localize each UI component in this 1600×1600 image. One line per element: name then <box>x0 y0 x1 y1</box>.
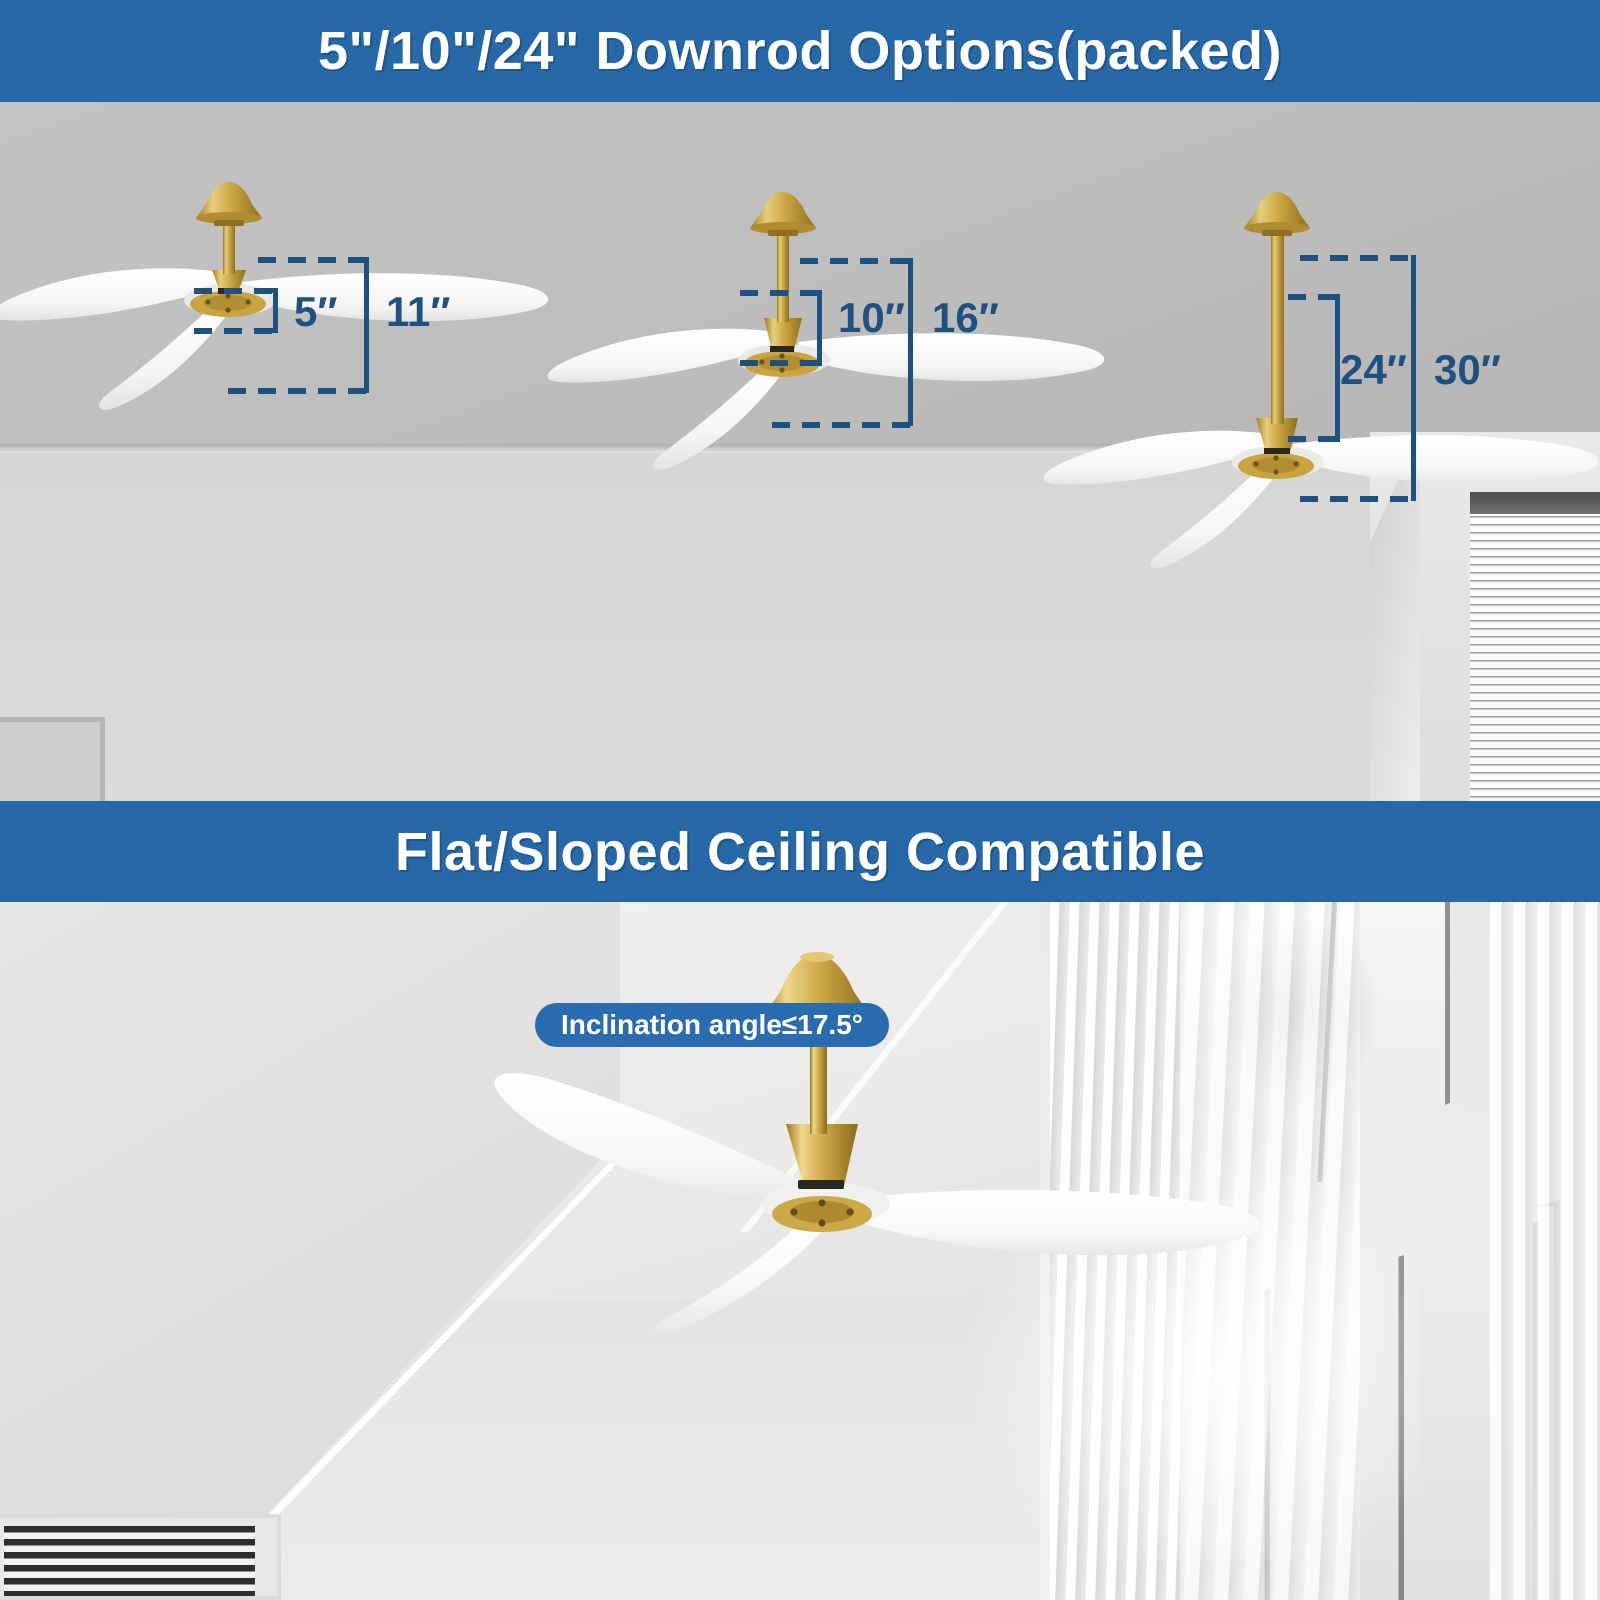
fan-blade <box>1292 435 1598 483</box>
downrod-comparison-scene: 5″ 11″ <box>0 102 1600 801</box>
downrod <box>223 226 235 274</box>
dim-bottom-dashed-line-5in <box>228 388 368 394</box>
dim-label-rod-24in: 24″ <box>1340 346 1407 394</box>
banner-ceiling-compatible-text: Flat/Sloped Ceiling Compatible <box>395 821 1205 883</box>
dim-label-rod-10in: 10″ <box>838 294 905 342</box>
banner-downrod-options-text: 5"/10"/24" Downrod Options(packed) <box>318 20 1282 82</box>
ceiling-fan-24in <box>1020 132 1600 552</box>
dim-top-dashed-line-10in <box>800 258 912 264</box>
ceiling-fan-sloped <box>440 912 1340 1332</box>
dim-top-dashed-line-24in <box>1300 255 1414 261</box>
dim-rod-bracket-10in <box>802 290 822 366</box>
dim-label-total-10in: 16″ <box>932 294 999 342</box>
banner-downrod-options: 5"/10"/24" Downrod Options(packed) <box>0 0 1600 102</box>
fan-blade <box>494 1073 808 1204</box>
dim-rod-bracket-24in <box>1320 294 1340 442</box>
dim-bottom-dashed-line-24in <box>1300 496 1414 502</box>
inclination-angle-label: Inclination angle≤17.5° <box>561 1009 863 1041</box>
inclination-angle-badge: Inclination angle≤17.5° <box>535 1003 889 1047</box>
dim-bottom-dashed-line-10in <box>772 422 912 428</box>
sheer-curtain-right <box>1490 902 1600 1600</box>
air-vent <box>0 1514 281 1600</box>
dim-top-dashed-line-5in <box>258 257 368 263</box>
air-vent-slats <box>4 1526 255 1596</box>
dim-rod-bracket-5in <box>258 288 278 333</box>
product-infographic: 5"/10"/24" Downrod Options(packed) <box>0 0 1600 1600</box>
dim-label-total-5in: 11″ <box>386 288 451 336</box>
dim-outer-line-5in <box>364 257 369 393</box>
dim-outer-line-10in <box>908 258 913 426</box>
sloped-ceiling-scene: Inclination angle≤17.5° <box>0 902 1600 1600</box>
downrod <box>1271 236 1284 424</box>
fan-blade <box>842 1190 1259 1255</box>
dim-label-rod-5in: 5″ <box>294 288 337 336</box>
dim-label-total-24in: 30″ <box>1434 346 1501 394</box>
dim-outer-line-24in <box>1411 255 1416 501</box>
door-frame <box>0 717 105 801</box>
banner-ceiling-compatible: Flat/Sloped Ceiling Compatible <box>0 801 1600 902</box>
ceiling-fan-5in <box>0 122 580 462</box>
downrod <box>777 236 789 322</box>
